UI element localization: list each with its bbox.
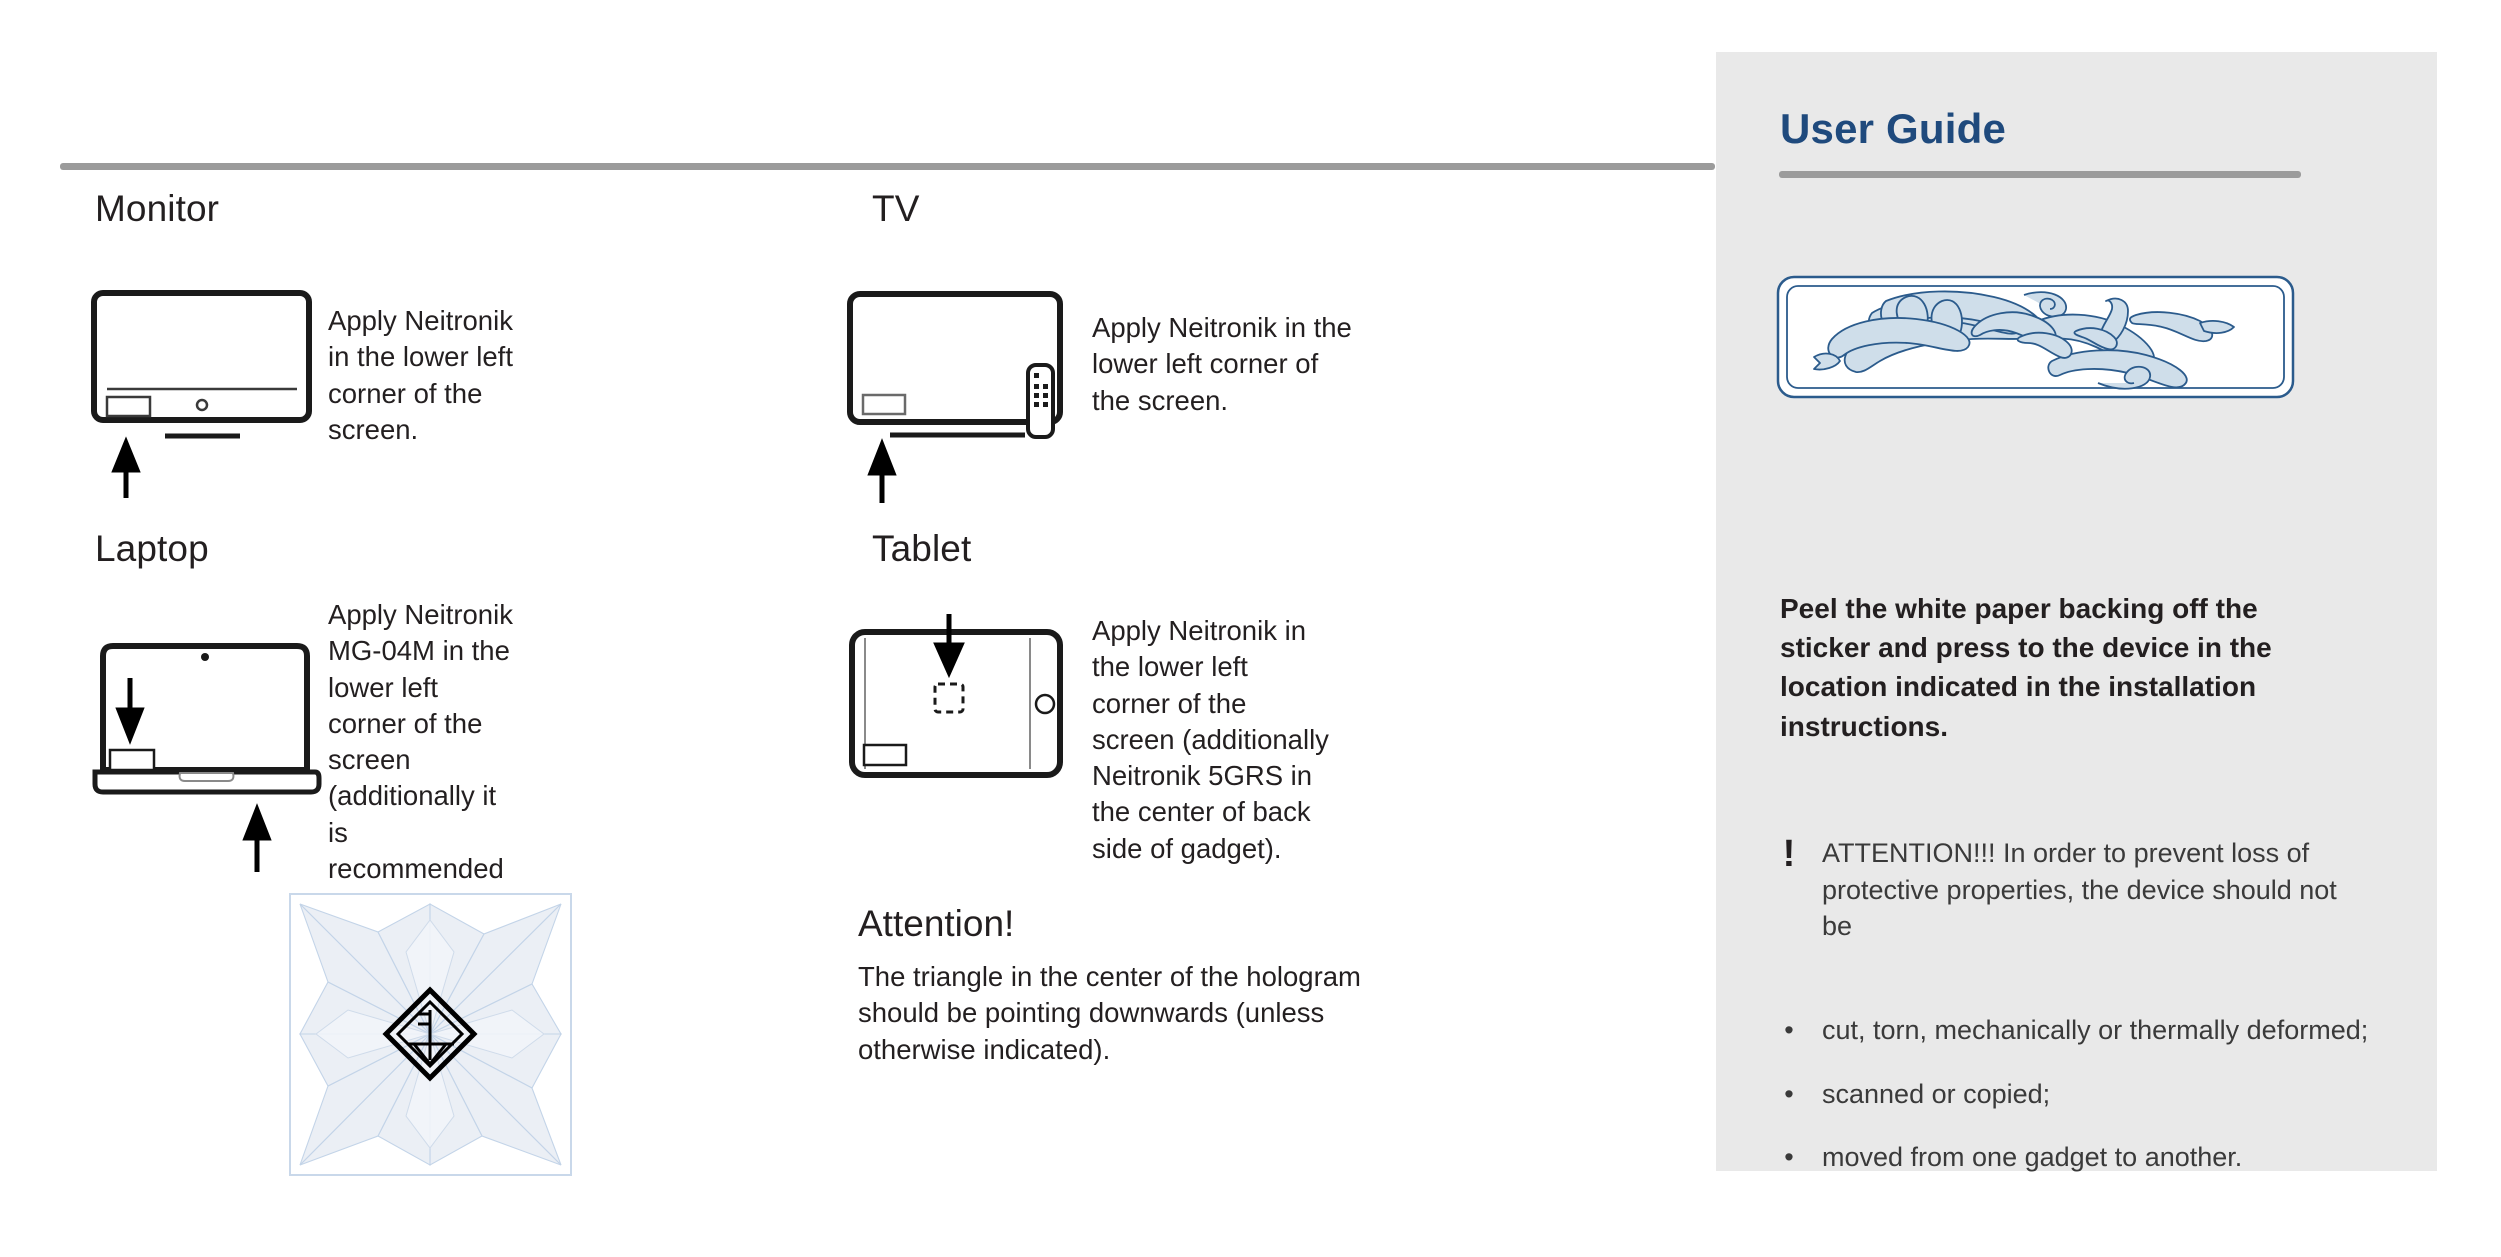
list-item: • moved from one gadget to another. xyxy=(1778,1139,2398,1176)
device-caption-monitor: Apply Neitronik in the lower left corner… xyxy=(328,303,533,448)
hologram-starburst-image xyxy=(288,892,573,1177)
device-heading-tv: TV xyxy=(872,190,919,227)
instructions-main-area: Monitor Apply Neitronik in the lower lef… xyxy=(0,0,1716,1257)
monitor-icon xyxy=(85,285,345,500)
laptop-icon xyxy=(85,620,335,880)
list-item-label: cut, torn, mechanically or thermally def… xyxy=(1822,1012,2382,1049)
device-heading-tablet: Tablet xyxy=(872,530,971,567)
sidebar-title: User Guide xyxy=(1780,108,2006,150)
device-block-laptop: Laptop xyxy=(95,530,209,567)
list-item: • scanned or copied; xyxy=(1778,1076,2398,1113)
bullet-dot-icon: • xyxy=(1778,1076,1800,1113)
attention-warning-row: ! ATTENTION!!! In order to prevent loss … xyxy=(1778,835,2358,945)
sidebar-divider-rule xyxy=(1779,171,2301,178)
attention-title: Attention! xyxy=(858,905,1418,942)
device-heading-laptop: Laptop xyxy=(95,530,209,567)
list-item: • cut, torn, mechanically or thermally d… xyxy=(1778,1012,2398,1049)
device-block-monitor: Monitor xyxy=(95,190,219,227)
device-block-tablet: Tablet xyxy=(872,530,971,567)
top-divider-rule xyxy=(60,163,1715,170)
tv-icon xyxy=(840,285,1110,505)
celtic-knot-sticker xyxy=(1776,275,2295,399)
tablet-icon xyxy=(840,612,1090,802)
user-guide-sidebar: User Guide xyxy=(1716,52,2437,1171)
sidebar-instruction-text: Peel the white paper backing off the sti… xyxy=(1780,589,2340,746)
attention-block: Attention! The triangle in the center of… xyxy=(858,905,1418,1068)
list-item-label: moved from one gadget to another. xyxy=(1822,1139,2382,1176)
exclamation-icon: ! xyxy=(1778,835,1800,945)
list-item-label: scanned or copied; xyxy=(1822,1076,2382,1113)
bullet-dot-icon: • xyxy=(1778,1012,1800,1049)
bullet-dot-icon: • xyxy=(1778,1139,1800,1176)
attention-warning-text: ATTENTION!!! In order to prevent loss of… xyxy=(1822,835,2358,945)
device-heading-monitor: Monitor xyxy=(95,190,219,227)
device-caption-tablet: Apply Neitronik in the lower left corner… xyxy=(1092,613,1332,867)
attention-text: The triangle in the center of the hologr… xyxy=(858,959,1378,1068)
prohibition-bullet-list: • cut, torn, mechanically or thermally d… xyxy=(1778,1012,2398,1203)
device-caption-tv: Apply Neitronik in the lower left corner… xyxy=(1092,310,1362,419)
device-block-tv: TV xyxy=(872,190,919,227)
